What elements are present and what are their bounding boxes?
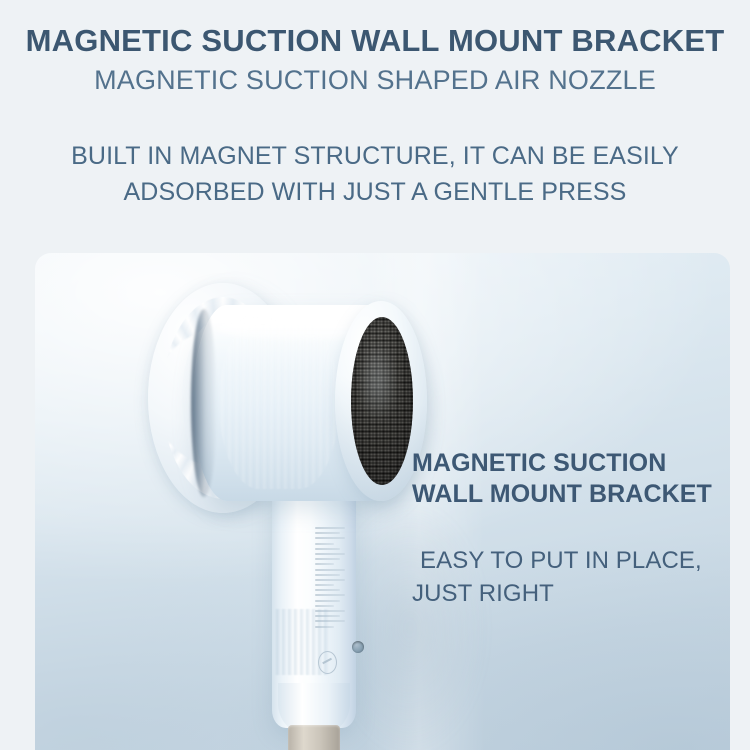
air-outlet-grille	[351, 317, 413, 485]
page-title: MAGNETIC SUCTION WALL MOUNT BRACKET	[0, 21, 750, 61]
description-line-2: ADSORBED WITH JUST A GENTLE PRESS	[0, 175, 750, 209]
handle-barrel-fillet	[267, 411, 387, 481]
product-photo-panel: MAGNETIC SUCTION WALL MOUNT BRACKET EASY…	[35, 253, 730, 750]
description-line-1: BUILT IN MAGNET STRUCTURE, IT CAN BE EAS…	[0, 139, 750, 173]
handle-screw-upper-icon	[352, 439, 363, 450]
dryer-barrel	[193, 305, 425, 501]
bracket-inner-face	[182, 317, 264, 479]
magnetic-wall-mount-bracket	[148, 283, 298, 513]
bracket-plate	[148, 283, 298, 513]
barrel-ribs	[219, 317, 339, 489]
handle-grip-ribs	[275, 609, 329, 675]
photo-caption-block: MAGNETIC SUCTION WALL MOUNT BRACKET EASY…	[412, 448, 722, 610]
grille-reflection	[357, 343, 399, 423]
bracket-drop-shadow	[145, 275, 325, 525]
page-subtitle: MAGNETIC SUCTION SHAPED AIR NOZZLE	[0, 62, 750, 98]
handle-base-taper	[278, 683, 350, 733]
bracket-scalloped-ring	[162, 297, 284, 499]
caption-subtext-line-2: JUST RIGHT	[412, 577, 722, 610]
caption-headline-line-1: MAGNETIC SUCTION	[412, 448, 722, 479]
dryer-handle	[272, 423, 356, 728]
power-cable-strain-relief	[288, 725, 340, 750]
grille-mesh-pattern	[351, 317, 413, 485]
barrel-highlight	[215, 315, 405, 341]
certification-mark-icon	[318, 651, 337, 674]
product-marketing-image: MAGNETIC SUCTION WALL MOUNT BRACKET MAGN…	[0, 0, 750, 750]
caption-subtext-block: EASY TO PUT IN PLACE, JUST RIGHT	[412, 544, 722, 610]
handle-spec-label	[315, 527, 345, 647]
header-text-block: MAGNETIC SUCTION WALL MOUNT BRACKET MAGN…	[0, 0, 750, 250]
caption-subtext-line-1: EASY TO PUT IN PLACE,	[412, 544, 722, 577]
caption-headline-line-2: WALL MOUNT BRACKET	[412, 479, 722, 510]
handle-screw-lower-icon	[352, 641, 364, 653]
barrel-bracket-seam	[191, 309, 217, 497]
